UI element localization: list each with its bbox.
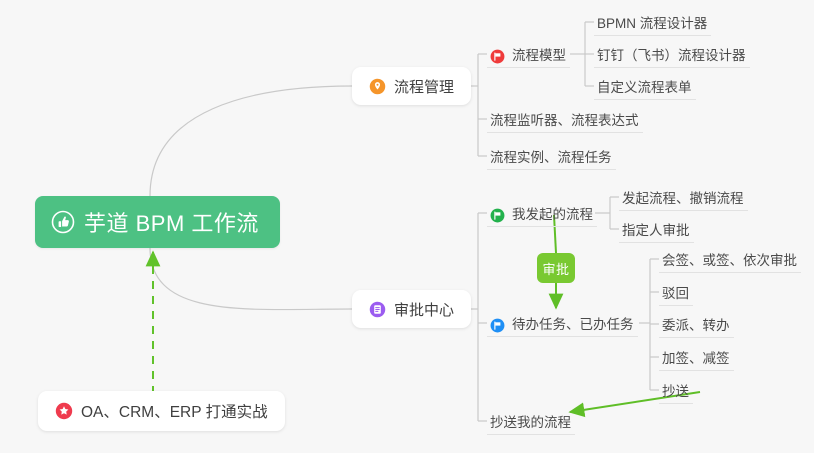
approval-flow-chip[interactable]: 审批 [537, 253, 575, 283]
root-node-label: 芋道 BPM 工作流 [84, 206, 259, 238]
location-pin-icon [369, 78, 386, 95]
leaf-cc-to-me[interactable]: 抄送我的流程 [487, 407, 575, 435]
leaf-label-start-cancel-process: 发起流程、撤销流程 [622, 192, 744, 208]
leaf-label-todo-done-tasks: 待办任务、已办任务 [512, 318, 634, 334]
branch-node-approval-center[interactable]: 审批中心 [352, 290, 471, 328]
leaf-countersign[interactable]: 会签、或签、依次审批 [659, 245, 801, 273]
thumbs-up-icon [51, 210, 75, 234]
leaf-label-cc-to-me: 抄送我的流程 [490, 416, 571, 432]
leaf-label-cc: 抄送 [662, 385, 689, 401]
leaf-process-model[interactable]: 流程模型 [487, 40, 570, 68]
branch-node-process-management[interactable]: 流程管理 [352, 67, 471, 105]
bottom-note-node[interactable]: OA、CRM、ERP 打通实战 [38, 391, 285, 431]
leaf-label-assigned-approval: 指定人审批 [622, 224, 690, 240]
leaf-cc[interactable]: 抄送 [659, 376, 693, 404]
blue-flag-icon [490, 318, 505, 333]
green-flag-icon [490, 208, 505, 223]
leaf-process-instance[interactable]: 流程实例、流程任务 [487, 142, 616, 170]
leaf-label-add-remove-sign: 加签、减签 [662, 352, 730, 368]
leaf-assigned-approval[interactable]: 指定人审批 [619, 215, 694, 243]
root-node[interactable]: 芋道 BPM 工作流 [35, 196, 280, 248]
red-star-icon [55, 402, 73, 420]
leaf-delegate-transfer[interactable]: 委派、转办 [659, 310, 734, 338]
leaf-label-countersign: 会签、或签、依次审批 [662, 254, 797, 270]
red-flag-icon [490, 49, 505, 64]
branch-label-process-management: 流程管理 [394, 76, 454, 97]
leaf-custom-form[interactable]: 自定义流程表单 [594, 72, 696, 100]
leaf-process-listener[interactable]: 流程监听器、流程表达式 [487, 105, 643, 133]
bottom-note-label: OA、CRM、ERP 打通实战 [81, 400, 268, 422]
leaf-label-delegate-transfer: 委派、转办 [662, 319, 730, 335]
leaf-label-custom-form: 自定义流程表单 [597, 81, 692, 97]
approval-flow-chip-label: 审批 [542, 259, 569, 278]
leaf-label-process-instance: 流程实例、流程任务 [490, 151, 612, 167]
leaf-my-initiated[interactable]: 我发起的流程 [487, 199, 597, 227]
branch-label-approval-center: 审批中心 [394, 299, 454, 320]
leaf-bpmn-designer[interactable]: BPMN 流程设计器 [594, 8, 711, 36]
leaf-reject[interactable]: 驳回 [659, 278, 693, 306]
mindmap-canvas: 芋道 BPM 工作流 流程管理 流程模型 BPMN 流程设计器 钉钉（飞书）流程… [0, 0, 814, 453]
leaf-label-process-listener: 流程监听器、流程表达式 [490, 114, 639, 130]
leaf-label-reject: 驳回 [662, 287, 689, 303]
leaf-label-dingtalk-designer: 钉钉（飞书）流程设计器 [597, 49, 746, 65]
leaf-label-process-model: 流程模型 [512, 49, 566, 65]
leaf-dingtalk-designer[interactable]: 钉钉（飞书）流程设计器 [594, 40, 750, 68]
leaf-start-cancel-process[interactable]: 发起流程、撤销流程 [619, 183, 748, 211]
leaf-add-remove-sign[interactable]: 加签、减签 [659, 343, 734, 371]
leaf-label-bpmn-designer: BPMN 流程设计器 [597, 17, 707, 33]
leaf-label-my-initiated: 我发起的流程 [512, 208, 593, 224]
leaf-todo-done-tasks[interactable]: 待办任务、已办任务 [487, 309, 638, 337]
document-circle-icon [369, 301, 386, 318]
